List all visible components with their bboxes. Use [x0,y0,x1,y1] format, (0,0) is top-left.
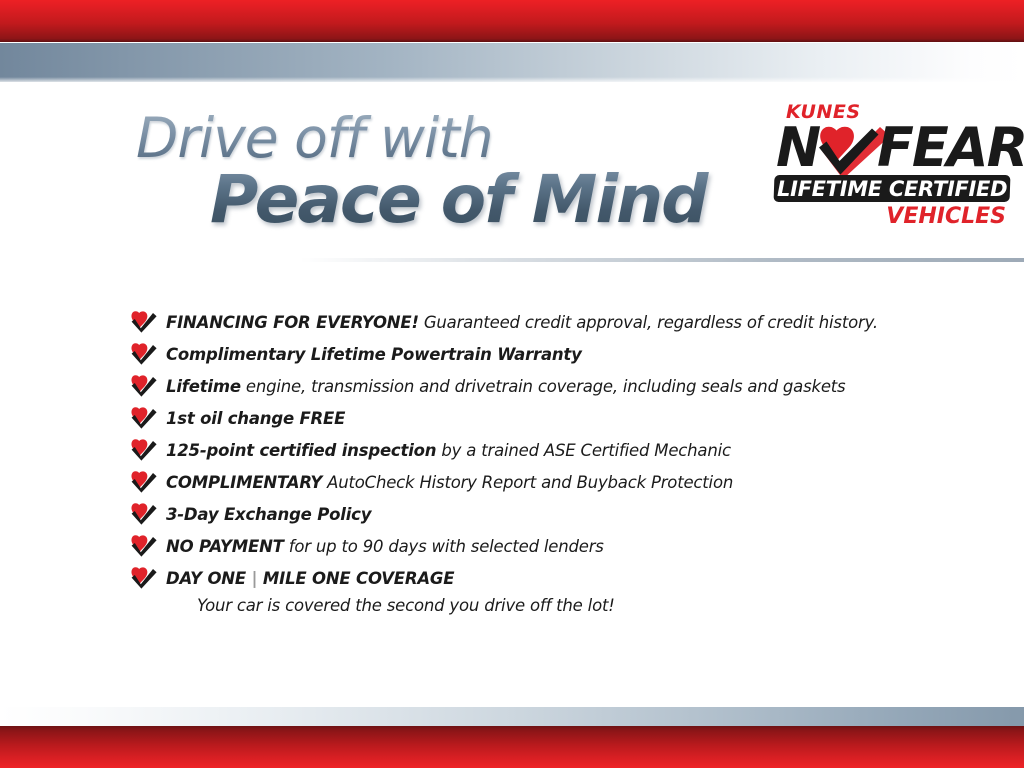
headline-line-1: Drive off with [136,108,736,168]
list-item-rest: by a trained ASE Certified Mechanic [436,441,731,460]
list-item-rest: engine, transmission and drivetrain cove… [241,377,846,396]
list-item: NO PAYMENT for up to 90 days with select… [131,532,931,564]
heart-check-icon [131,567,157,589]
list-item-bold: COMPLIMENTARY [166,473,322,492]
list-item-bold-a: DAY ONE [166,569,246,588]
heart-check-icon [131,503,157,525]
list-item-bold: Complimentary Lifetime Powertrain Warran… [166,345,582,364]
list-item-rest: AutoCheck History Report and Buyback Pro… [322,473,733,492]
list-item: DAY ONE | MILE ONE COVERAGE Your car is … [131,564,931,620]
header-divider [300,258,1024,262]
heart-check-icon [131,535,157,557]
list-item-text: Lifetime engine, transmission and drivet… [166,377,845,396]
header: Drive off with Peace of Mind KUNES N [0,92,1024,267]
list-item: Complimentary Lifetime Powertrain Warran… [131,340,931,372]
list-item-text: FINANCING FOR EVERYONE! Guaranteed credi… [166,313,878,332]
list-item-bold: Lifetime [166,377,241,396]
kunes-no-fear-logo: KUNES N FEAR LIFETIM [774,102,1012,242]
list-item-rest: Guaranteed credit approval, regardless o… [419,313,878,332]
benefits-list: FINANCING FOR EVERYONE! Guaranteed credi… [131,308,931,620]
bottom-gray-band [0,707,1024,726]
list-item-bold: FINANCING FOR EVERYONE! [166,313,419,332]
page-title: Drive off with Peace of Mind [136,108,736,236]
bottom-red-band [0,726,1024,768]
heart-check-icon [131,375,157,397]
list-item-subtext: Your car is covered the second you drive… [197,594,931,618]
promo-page: Drive off with Peace of Mind KUNES N [0,0,1024,768]
list-item-text: 3-Day Exchange Policy [166,505,371,524]
list-item-rest: for up to 90 days with selected lenders [284,537,604,556]
top-red-band [0,0,1024,42]
list-item-text: DAY ONE | MILE ONE COVERAGE [166,569,454,588]
headline-line-2: Peace of Mind [210,164,736,236]
heart-check-icon [131,439,157,461]
list-item-separator: | [246,569,263,588]
list-item-bold: 125-point certified inspection [166,441,436,460]
list-item-bold: 3-Day Exchange Policy [166,505,371,524]
heart-check-icon [131,311,157,333]
list-item: 3-Day Exchange Policy [131,500,931,532]
logo-word-fear: FEAR [877,120,1024,176]
heart-check-icon [131,471,157,493]
list-item-text: 125-point certified inspection by a trai… [166,441,731,460]
list-item: 1st oil change FREE [131,404,931,436]
list-item-text: 1st oil change FREE [166,409,345,428]
list-item-bold: NO PAYMENT [166,537,284,556]
logo-bar-label: LIFETIME CERTIFIED [777,177,1007,201]
list-item-text: COMPLIMENTARY AutoCheck History Report a… [166,473,733,492]
list-item: 125-point certified inspection by a trai… [131,436,931,468]
list-item: FINANCING FOR EVERYONE! Guaranteed credi… [131,308,931,340]
top-gray-band [0,43,1024,82]
list-item-text: NO PAYMENT for up to 90 days with select… [166,537,604,556]
logo-word-vehicles: VEHICLES [886,205,1006,229]
list-item-bold-b: MILE ONE COVERAGE [263,569,454,588]
heart-check-icon [131,343,157,365]
logo-main-row: N FEAR [774,120,1012,180]
list-item-text: Complimentary Lifetime Powertrain Warran… [166,345,582,364]
list-item: COMPLIMENTARY AutoCheck History Report a… [131,468,931,500]
heart-check-icon [131,407,157,429]
list-item-bold: 1st oil change FREE [166,409,345,428]
logo-lifetime-certified-bar: LIFETIME CERTIFIED [774,175,1011,202]
list-item: Lifetime engine, transmission and drivet… [131,372,931,404]
